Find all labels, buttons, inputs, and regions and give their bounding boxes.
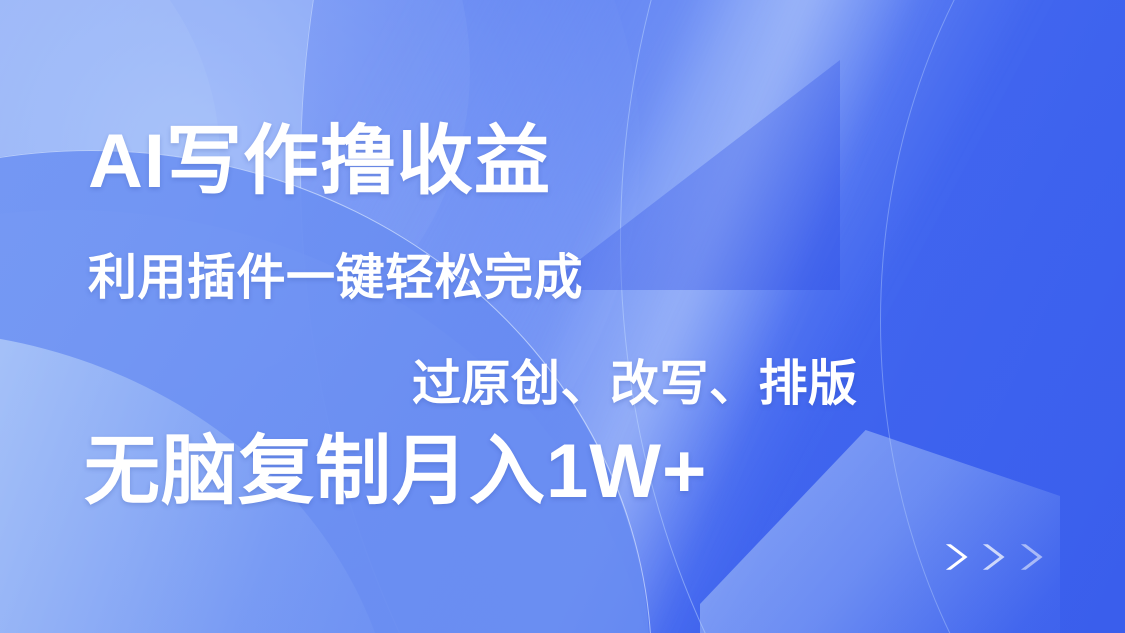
chevron-group bbox=[938, 534, 1056, 580]
headline-line-2: 利用插件一键轻松完成 bbox=[88, 254, 583, 303]
chevron-right-icon bbox=[1013, 535, 1056, 579]
headline-line-4: 无脑复制月入1W+ bbox=[84, 434, 707, 510]
promo-banner: AI写作撸收益 利用插件一键轻松完成 过原创、改写、排版 无脑复制月入1W+ bbox=[0, 0, 1125, 633]
headline-line-1: AI写作撸收益 bbox=[88, 124, 551, 200]
headline-line-3: 过原创、改写、排版 bbox=[412, 360, 858, 409]
